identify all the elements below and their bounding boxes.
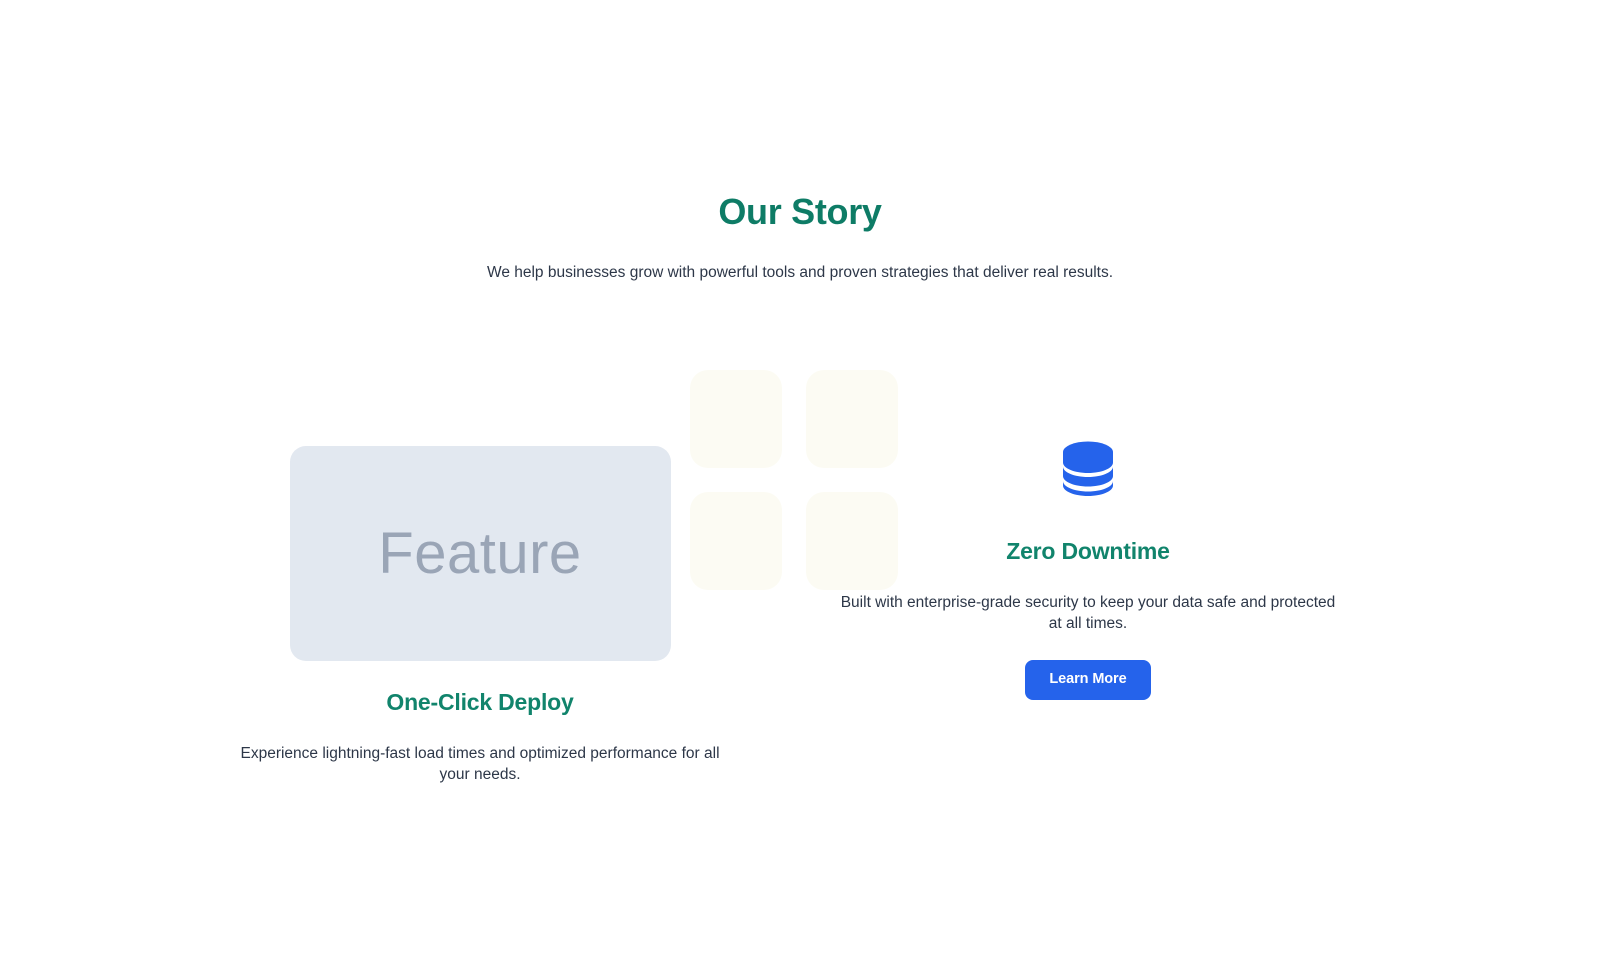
feature-placeholder-label: Feature: [378, 525, 581, 583]
feature-card-one-click-deploy: Feature One-Click Deploy Experience ligh…: [230, 446, 730, 785]
feature-description-right: Built with enterprise-grade security to …: [833, 566, 1343, 634]
section-header: Our Story We help businesses grow with p…: [0, 190, 1600, 284]
page-title: Our Story: [0, 190, 1600, 234]
cta-container: Learn More: [828, 634, 1348, 700]
feature-title-right: Zero Downtime: [828, 496, 1348, 566]
feature-card-zero-downtime: Zero Downtime Built with enterprise-grad…: [828, 440, 1348, 700]
section-subtitle: We help businesses grow with powerful to…: [0, 234, 1600, 284]
feature-title-left: One-Click Deploy: [230, 661, 730, 717]
feature-description-left: Experience lightning-fast load times and…: [240, 717, 720, 785]
learn-more-button[interactable]: Learn More: [1025, 660, 1150, 700]
feature-media-placeholder: Feature: [290, 446, 671, 661]
database-icon: [1062, 440, 1114, 496]
